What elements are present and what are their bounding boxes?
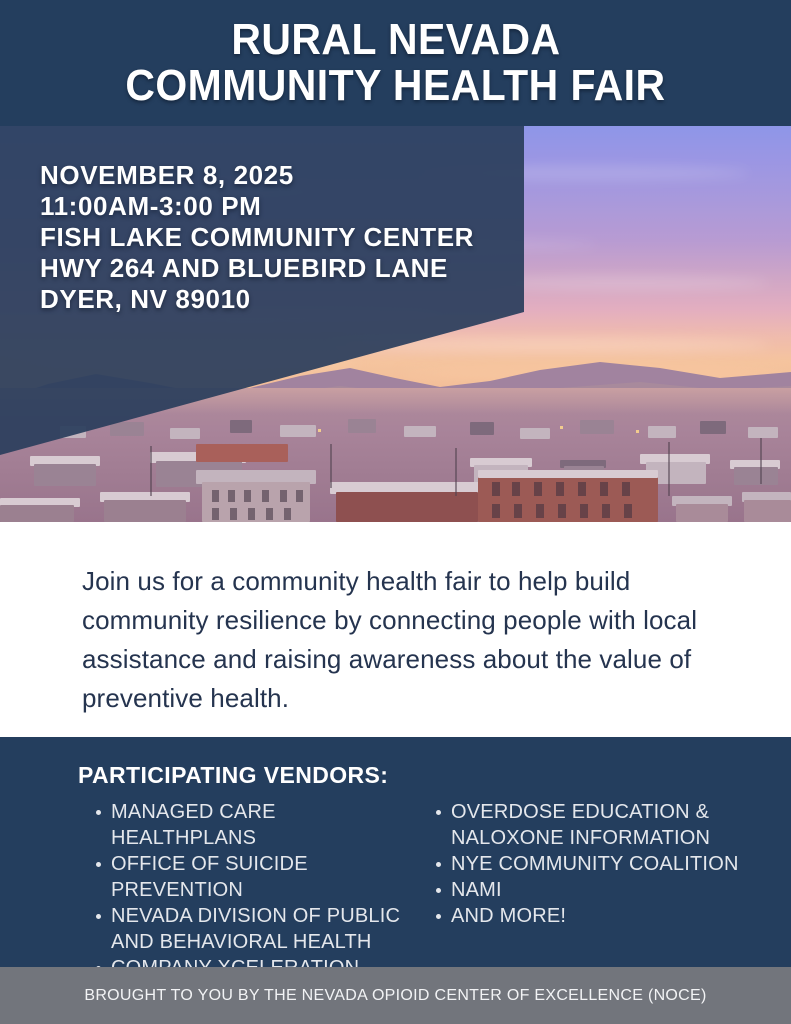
building [230, 420, 252, 433]
window [492, 482, 500, 496]
window [512, 482, 520, 496]
intro-paragraph: Join us for a community health fair to h… [82, 562, 702, 718]
window [556, 482, 564, 496]
building [748, 427, 778, 438]
utility-pole [668, 442, 670, 496]
footer-text: BROUGHT TO YOU BY THE NEVADA OPIOID CENT… [84, 987, 706, 1005]
house [34, 464, 96, 486]
window [244, 490, 251, 502]
window [534, 482, 542, 496]
window [212, 508, 219, 520]
event-venue: FISH LAKE COMMUNITY CENTER [40, 222, 474, 253]
event-details: NOVEMBER 8, 2025 11:00AM-3:00 PM FISH LA… [40, 160, 474, 315]
list-item: NYE COMMUNITY COALITION [436, 851, 766, 877]
house [0, 505, 74, 522]
building-cornice [478, 470, 658, 478]
page-title-line-2: COMMUNITY HEALTH FAIR [125, 63, 665, 109]
list-item: MANAGED CARE HEALTHPLANS [96, 799, 426, 851]
building [60, 426, 86, 438]
event-city-state-zip: DYER, NV 89010 [40, 284, 474, 315]
event-street: HWY 264 AND BLUEBIRD LANE [40, 253, 474, 284]
window [578, 482, 586, 496]
window [492, 504, 500, 518]
event-date: NOVEMBER 8, 2025 [40, 160, 474, 191]
list-item: AND MORE! [436, 903, 766, 929]
vendor-list-right: OVERDOSE EDUCATION & NALOXONE INFORMATIO… [436, 799, 766, 929]
window [580, 504, 588, 518]
window [600, 482, 608, 496]
building [520, 428, 550, 439]
house [676, 504, 728, 522]
brick-building [196, 444, 288, 462]
house [104, 500, 186, 522]
window [624, 504, 632, 518]
ground-haze [0, 388, 791, 414]
window [622, 482, 630, 496]
lit-window [560, 426, 563, 429]
intro-section: Join us for a community health fair to h… [0, 522, 791, 737]
event-time: 11:00AM-3:00 PM [40, 191, 474, 222]
list-item: NEVADA DIVISION OF PUBLIC AND BEHAVIORAL… [96, 903, 426, 955]
window [248, 508, 255, 520]
building [580, 420, 614, 434]
vendors-section: PARTICIPATING VENDORS: MANAGED CARE HEAL… [0, 737, 791, 967]
utility-pole [455, 448, 457, 496]
vendors-title: PARTICIPATING VENDORS: [78, 762, 388, 789]
window [262, 490, 269, 502]
window [228, 490, 235, 502]
list-item: OFFICE OF SUICIDE PREVENTION [96, 851, 426, 903]
building [280, 425, 316, 437]
building [170, 428, 200, 439]
building [348, 419, 376, 433]
building [648, 426, 676, 438]
building [470, 422, 494, 435]
utility-pole [760, 438, 762, 484]
brick-building [336, 492, 478, 522]
window [266, 508, 273, 520]
building [404, 426, 436, 437]
window [296, 490, 303, 502]
header-banner: RURAL NEVADA COMMUNITY HEALTH FAIR [0, 0, 791, 126]
utility-pole [150, 446, 152, 496]
footer-bar: BROUGHT TO YOU BY THE NEVADA OPIOID CENT… [0, 967, 791, 1024]
vendor-list-left: MANAGED CARE HEALTHPLANS OFFICE OF SUICI… [96, 799, 426, 981]
utility-pole [330, 444, 332, 488]
building [700, 421, 726, 434]
cloud-band [480, 276, 770, 290]
window [212, 490, 219, 502]
window [280, 490, 287, 502]
flyer: RURAL NEVADA COMMUNITY HEALTH FAIR [0, 0, 791, 1024]
page-title-line-1: RURAL NEVADA [231, 17, 560, 63]
window [536, 504, 544, 518]
window [602, 504, 610, 518]
window [514, 504, 522, 518]
building [110, 422, 144, 436]
list-item: NAMI [436, 877, 766, 903]
house [734, 467, 778, 485]
list-item: OVERDOSE EDUCATION & NALOXONE INFORMATIO… [436, 799, 766, 851]
house [744, 500, 791, 522]
cloud-band [330, 338, 770, 352]
lit-window [636, 430, 639, 433]
window [230, 508, 237, 520]
lit-window [318, 429, 321, 432]
window [558, 504, 566, 518]
window [284, 508, 291, 520]
